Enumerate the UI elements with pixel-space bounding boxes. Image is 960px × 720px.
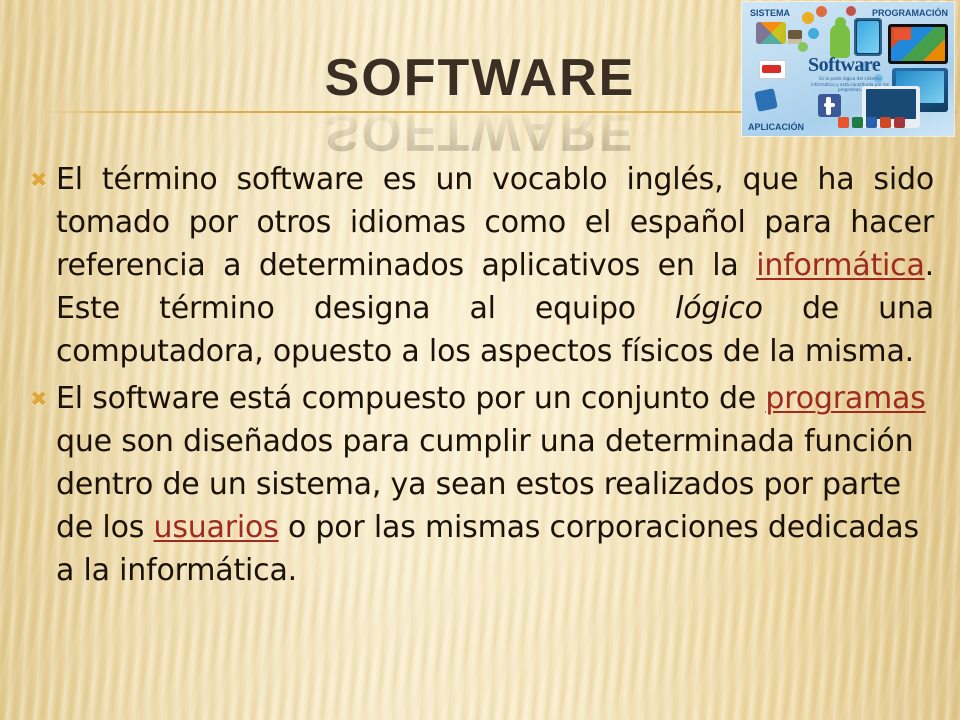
publisher-tile-icon (838, 117, 849, 128)
inline-link[interactable]: programas (765, 381, 925, 416)
pdf-tile-icon (894, 29, 911, 40)
bullet-cross-icon: ✖ (22, 377, 56, 421)
facebook-bar-glyph-icon (824, 103, 835, 107)
bullet-cross-icon: ✖ (22, 158, 56, 202)
paragraph-text-run: El software está compuesto por un conjun… (56, 381, 765, 416)
youtube-play-icon (762, 65, 781, 73)
desktop-screen-icon (866, 89, 916, 119)
slide-body-content: ✖ El término software es un vocablo ingl… (22, 158, 940, 592)
access-tile-icon (894, 117, 905, 128)
excel-tile-icon (852, 117, 863, 128)
powerpoint-tile-icon (880, 117, 891, 128)
inline-link[interactable]: usuarios (154, 510, 279, 545)
mascot-body-icon (830, 24, 850, 58)
photoshop-icon (754, 88, 778, 112)
bullet-paragraph-1: El término software es un vocablo inglés… (56, 158, 940, 373)
app-bubble-icon (798, 42, 808, 52)
windows-logo-overlay-icon (756, 22, 786, 44)
app-bubble-icon (846, 6, 856, 16)
tablet-screen-icon (857, 21, 879, 53)
hero-subtitle-text: Es la parte lógica del sistema informáti… (810, 76, 890, 93)
software-infographic-image: SISTEMA PROGRAMACIÓN APLICACIÓN Software… (742, 2, 954, 136)
hero-label-programacion: PROGRAMACIÓN (872, 8, 948, 18)
hero-word-software: Software (808, 54, 880, 77)
hero-label-aplicacion: APLICACIÓN (748, 122, 804, 132)
app-bubble-icon (802, 12, 814, 24)
bullet-paragraph-2: El software está compuesto por un conjun… (56, 377, 940, 592)
bullet-item: ✖ El término software es un vocablo ingl… (22, 158, 940, 373)
bullet-item: ✖ El software está compuesto por un conj… (22, 377, 940, 592)
hero-label-sistema: SISTEMA (750, 8, 790, 18)
slide-canvas: SOFTWARE SOFTWARE SIS (0, 0, 960, 720)
mascot-head-icon (835, 17, 846, 28)
app-bubble-icon (816, 6, 827, 17)
inline-link[interactable]: informática (756, 248, 924, 283)
emphasis-text: lógico (675, 291, 763, 326)
app-bubble-icon (808, 28, 819, 39)
word-tile-icon (866, 117, 877, 128)
